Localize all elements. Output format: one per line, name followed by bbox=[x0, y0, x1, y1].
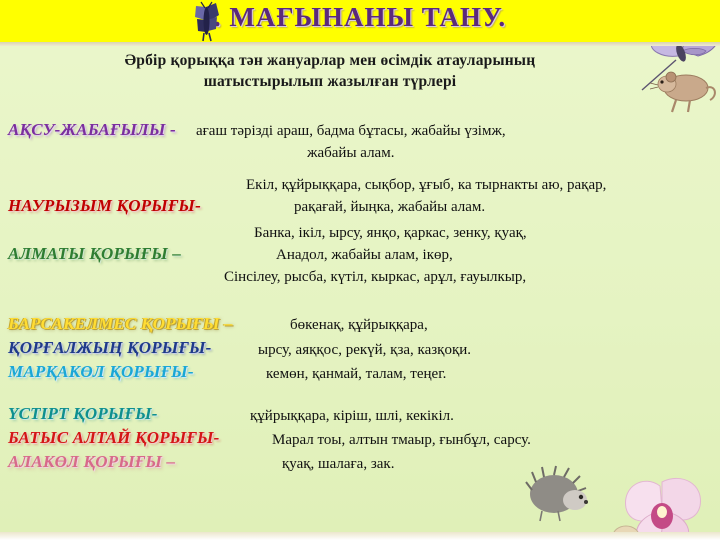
reserve-group: ҚОРҒАЛЖЫҢ ҚОРЫҒЫ- ырсу, аяққос, рекүй, қ… bbox=[0, 338, 720, 362]
reserve-group: НАУРЫЗЫМ ҚОРЫҒЫ- Екіл, құйрыққара, сықбо… bbox=[0, 172, 720, 220]
hedgehog-icon bbox=[524, 464, 590, 526]
reserve-group: АЛМАТЫ ҚОРЫҒЫ – Банка, ікіл, ырсу, янқо,… bbox=[0, 220, 720, 290]
bottom-divider bbox=[0, 532, 720, 540]
item-line: кемөн, қанмай, талам, теңег. bbox=[266, 363, 446, 385]
reserve-items: ағаш тәрізді араш, бадма бұтасы, жабайы … bbox=[196, 120, 506, 164]
reserve-label: АҚСУ-ЖАБАҒЫЛЫ - bbox=[8, 120, 176, 140]
reserve-label: АЛАКӨЛ ҚОРЫҒЫ – bbox=[8, 452, 175, 472]
page-title: . МАҒЫНАНЫ ТАНУ. bbox=[0, 2, 720, 33]
reserve-items: Банка, ікіл, ырсу, янқо, қаркас, зенку, … bbox=[224, 222, 527, 288]
item-line: құйрыққара, кіріш, шлі, кекікіл. bbox=[250, 405, 454, 427]
item-line: Анадол, жабайы алам, ікөр, bbox=[224, 244, 527, 266]
item-line: бөкенақ, құйрыққара, bbox=[290, 314, 428, 336]
reserve-group: БАТЫС АЛТАЙ ҚОРЫҒЫ- Марал тоы, алтын тма… bbox=[0, 428, 720, 452]
moth-icon bbox=[186, 1, 228, 42]
reserve-items: құйрыққара, кіріш, шлі, кекікіл. bbox=[250, 405, 454, 427]
reserve-label: МАРҚАКӨЛ ҚОРЫҒЫ- bbox=[8, 362, 194, 382]
reserve-label: АЛМАТЫ ҚОРЫҒЫ – bbox=[8, 244, 181, 264]
item-line: Екіл, құйрыққара, сықбор, ұғыб, ка тырна… bbox=[246, 174, 606, 196]
item-line: қуақ, шалаға, зак. bbox=[282, 453, 394, 475]
item-line: Марал тоы, алтын тмаыр, ғынбұл, сарсу. bbox=[272, 429, 531, 451]
slide: . МАҒЫНАНЫ ТАНУ. bbox=[0, 0, 720, 540]
reserve-group: АҚСУ-ЖАБАҒЫЛЫ - ағаш тәрізді араш, бадма… bbox=[0, 118, 720, 164]
reserve-label: ҮСТІРТ ҚОРЫҒЫ- bbox=[8, 404, 158, 424]
reserve-items: ырсу, аяққос, рекүй, қза, казқоқи. bbox=[258, 339, 471, 361]
reserve-label: БАРСАКЕЛМЕС ҚОРЫҒЫ – bbox=[8, 314, 233, 334]
title-banner: . МАҒЫНАНЫ ТАНУ. bbox=[0, 0, 720, 42]
item-line: ағаш тәрізді араш, бадма бұтасы, жабайы … bbox=[196, 120, 506, 142]
reserve-group: МАРҚАКӨЛ ҚОРЫҒЫ- кемөн, қанмай, талам, т… bbox=[0, 362, 720, 386]
item-line: ырсу, аяққос, рекүй, қза, казқоқи. bbox=[258, 339, 471, 361]
reserve-group: БАРСАКЕЛМЕС ҚОРЫҒЫ – бөкенақ, құйрыққара… bbox=[0, 314, 720, 338]
item-line: жабайы алам. bbox=[196, 142, 506, 164]
subtitle-line-1: Әрбір қорыққа тән жануарлар мен өсімдік … bbox=[0, 50, 660, 71]
reserve-items: бөкенақ, құйрыққара, bbox=[290, 314, 428, 336]
reserve-group: ҮСТІРТ ҚОРЫҒЫ- құйрыққара, кіріш, шлі, к… bbox=[0, 404, 720, 428]
item-line: рақағай, йыңка, жабайы алам. bbox=[246, 196, 606, 218]
item-line: Сінсілеу, рысба, күтіл, кыркас, арұл, ға… bbox=[224, 266, 527, 288]
slide-body: Әрбір қорыққа тән жануарлар мен өсімдік … bbox=[0, 46, 720, 532]
reserve-items: Екіл, құйрыққара, сықбор, ұғыб, ка тырна… bbox=[246, 174, 606, 218]
subtitle-line-2: шатыстырылып жазылған түрлері bbox=[0, 71, 660, 92]
reserve-label: БАТЫС АЛТАЙ ҚОРЫҒЫ- bbox=[8, 428, 220, 448]
subtitle: Әрбір қорыққа тән жануарлар мен өсімдік … bbox=[0, 50, 660, 92]
reserve-items: кемөн, қанмай, талам, теңег. bbox=[266, 363, 446, 385]
reserve-items: Марал тоы, алтын тмаыр, ғынбұл, сарсу. bbox=[272, 429, 531, 451]
item-line: Банка, ікіл, ырсу, янқо, қаркас, зенку, … bbox=[224, 222, 527, 244]
reserve-label: НАУРЫЗЫМ ҚОРЫҒЫ- bbox=[8, 196, 201, 216]
orchid-icon bbox=[596, 462, 720, 532]
reserve-label: ҚОРҒАЛЖЫҢ ҚОРЫҒЫ- bbox=[8, 338, 212, 358]
reserve-items: қуақ, шалаға, зак. bbox=[282, 453, 394, 475]
